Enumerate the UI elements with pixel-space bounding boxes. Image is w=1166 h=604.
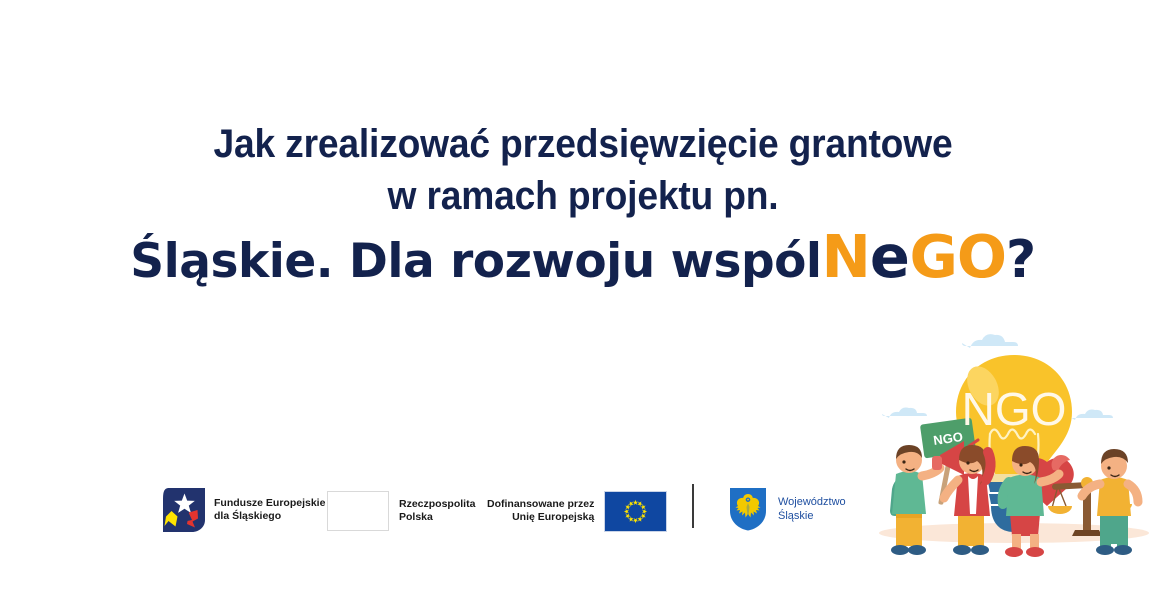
logo-fe-line-2: dla Śląskiego — [214, 510, 281, 522]
logo-fundusze-europejskie: Fundusze Europejskie dla Śląskiego — [163, 484, 325, 536]
logo-fundusze-europejskie-label: Fundusze Europejskie dla Śląskiego — [214, 497, 325, 523]
page-title: Jak zrealizować przedsięwzięcie grantowe… — [0, 118, 1166, 297]
logo-rzeczpospolita-polska: Rzeczpospolita Polska — [327, 485, 475, 537]
logo-wojewodztwo-slaskie-label: Województwo Śląskie — [778, 495, 846, 523]
lightbulb-label: NGO — [962, 383, 1067, 435]
logo-dofinansowane-ue-label: Dofinansowane przez Unię Europejską — [487, 498, 594, 524]
headline-question-mark: ? — [1006, 230, 1036, 290]
headline-accent-e: e — [870, 222, 910, 291]
slide-canvas: Jak zrealizować przedsięwzięcie grantowe… — [0, 0, 1166, 604]
headline-line-2: w ramach projektu pn. — [41, 170, 1125, 222]
logo-rzeczpospolita-polska-label: Rzeczpospolita Polska — [399, 498, 475, 524]
ngo-community-lightbulb-illustration: NGO NGO — [862, 330, 1166, 580]
logo-dofinansowane-ue: Dofinansowane przez Unię Europejską — [487, 485, 667, 537]
logo-eu-line-1: Dofinansowane przez — [487, 498, 594, 510]
headline-accent-n: N — [822, 222, 870, 291]
logo-ws-line-1: Województwo — [778, 496, 846, 508]
logo-eu-line-2: Unię Europejską — [512, 511, 594, 523]
fundusze-europejskie-stars-icon — [163, 488, 205, 532]
logo-fe-line-1: Fundusze Europejskie — [214, 497, 325, 509]
logo-ws-line-2: Śląskie — [778, 510, 813, 522]
european-union-flag-icon — [604, 491, 667, 532]
footer-divider — [692, 484, 694, 528]
headline-line-1: Jak zrealizować przedsięwzięcie grantowe — [41, 118, 1125, 170]
poland-flag-icon — [327, 491, 389, 531]
silesian-voivodeship-crest-icon — [729, 487, 767, 531]
logo-wojewodztwo-slaskie: Województwo Śląskie — [729, 483, 846, 535]
headline-line-3: Śląskie. Dla rozwoju wspólNeGO? — [0, 222, 1166, 297]
logo-pl-line-2: Polska — [399, 511, 433, 523]
headline-line-3-prefix: Śląskie. Dla rozwoju wspól — [130, 234, 821, 289]
logo-pl-line-1: Rzeczpospolita — [399, 498, 475, 510]
headline-accent-go: GO — [909, 222, 1006, 291]
